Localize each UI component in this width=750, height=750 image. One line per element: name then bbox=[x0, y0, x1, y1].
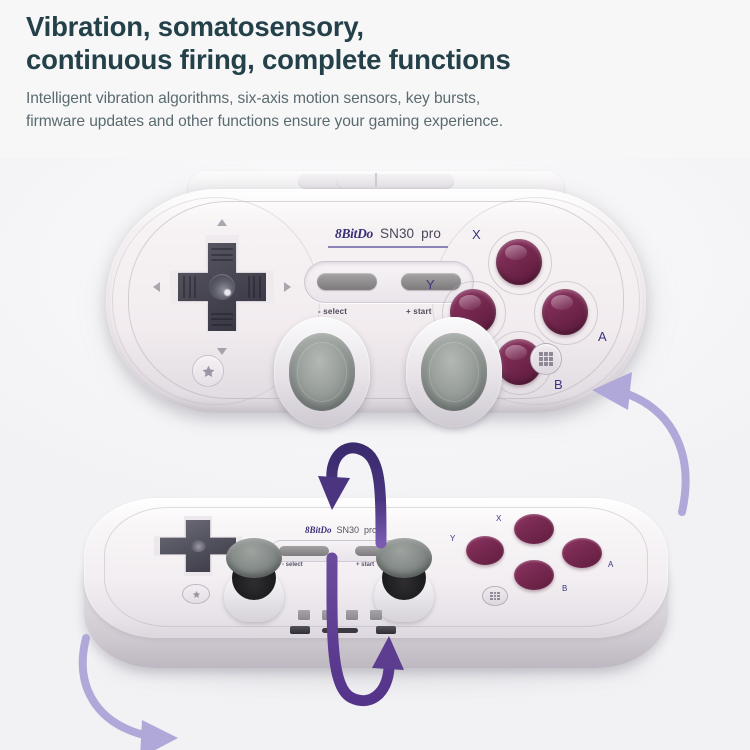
headline-line-1: Vibration, somatosensory, bbox=[26, 11, 364, 42]
dpad-left-marker-icon bbox=[153, 282, 160, 292]
capture-button[interactable] bbox=[530, 343, 562, 375]
feature-panel: Vibration, somatosensory, continuous fir… bbox=[0, 0, 750, 750]
select-button[interactable] bbox=[317, 273, 377, 290]
model-name: SN30 bbox=[380, 226, 414, 241]
start-label-bottom: + start bbox=[356, 562, 374, 568]
x-button-label: X bbox=[472, 227, 481, 242]
a-button-label-bottom: A bbox=[608, 560, 613, 569]
controller-perspective-view: 8BitDoSN30pro - select + start X Y A B bbox=[76, 488, 676, 698]
model-name-bottom: SN30 bbox=[336, 525, 359, 535]
a-button[interactable] bbox=[542, 289, 588, 335]
star-icon bbox=[201, 364, 216, 379]
y-button-label-bottom: Y bbox=[450, 534, 455, 543]
right-stick-cap-bottom bbox=[376, 538, 432, 578]
subline-line-1: Intelligent vibration algorithms, six-ax… bbox=[26, 90, 480, 107]
led-4 bbox=[370, 610, 382, 620]
page-title: Vibration, somatosensory, continuous fir… bbox=[26, 10, 726, 76]
brand-underline bbox=[328, 246, 448, 248]
a-button-bottom[interactable] bbox=[562, 538, 602, 568]
led-3 bbox=[346, 610, 358, 620]
right-analog-stick[interactable] bbox=[406, 317, 502, 427]
b-button-label: B bbox=[554, 377, 563, 392]
right-bumper[interactable] bbox=[336, 174, 454, 189]
star-icon-bottom bbox=[191, 590, 202, 599]
y-button-label: Y bbox=[426, 277, 435, 292]
x-button-bottom[interactable] bbox=[514, 514, 554, 544]
dpad-center-hub-bottom bbox=[190, 540, 206, 552]
dpad-cross[interactable] bbox=[178, 243, 266, 331]
dpad[interactable] bbox=[164, 229, 280, 345]
start-label: + start bbox=[406, 307, 432, 316]
shoulder-seam bbox=[375, 173, 377, 187]
brand-name-bottom: 8BitDo bbox=[305, 525, 332, 535]
select-button-bottom[interactable] bbox=[279, 546, 329, 556]
right-stick-cap bbox=[421, 333, 487, 411]
left-stick-cap bbox=[289, 333, 355, 411]
x-button[interactable] bbox=[496, 239, 542, 285]
left-analog-stick-bottom[interactable] bbox=[224, 538, 284, 622]
port-left-slot bbox=[290, 626, 310, 634]
controller-body: 8BitDoSN30pro - select + start X Y bbox=[106, 189, 646, 413]
subline-line-2: firmware updates and other functions ens… bbox=[26, 111, 726, 134]
port-right-slot bbox=[376, 626, 396, 634]
grid-icon bbox=[539, 352, 553, 366]
y-button-bottom[interactable] bbox=[466, 536, 504, 565]
model-suffix: pro bbox=[421, 226, 441, 241]
left-stick-cap-bottom bbox=[226, 538, 282, 578]
select-label-bottom: - select bbox=[282, 562, 303, 568]
brand-label: 8BitDoSN30pro bbox=[304, 225, 472, 248]
page-subtitle: Intelligent vibration algorithms, six-ax… bbox=[26, 88, 726, 133]
led-indicator-row bbox=[298, 610, 382, 620]
controller-top-view: 8BitDoSN30pro - select + start X Y bbox=[96, 171, 656, 427]
b-button-bottom[interactable] bbox=[514, 560, 554, 590]
dpad-down-marker-icon bbox=[217, 348, 227, 355]
model-suffix-bottom: pro bbox=[364, 525, 377, 535]
header-block: Vibration, somatosensory, continuous fir… bbox=[0, 0, 750, 158]
capture-button-bottom[interactable] bbox=[482, 586, 508, 606]
home-button-bottom[interactable] bbox=[182, 584, 210, 604]
left-analog-stick[interactable] bbox=[274, 317, 370, 427]
dpad-right-marker-icon bbox=[284, 282, 291, 292]
a-button-label: A bbox=[598, 329, 607, 344]
led-1 bbox=[298, 610, 310, 620]
product-stage: 8BitDoSN30pro - select + start X Y bbox=[0, 158, 750, 750]
grid-icon-bottom bbox=[490, 592, 500, 600]
dpad-up-marker-icon bbox=[217, 219, 227, 226]
right-analog-stick-bottom[interactable] bbox=[374, 538, 434, 622]
b-button-label-bottom: B bbox=[562, 584, 567, 593]
controller-top-face: 8BitDoSN30pro - select + start X Y A B bbox=[84, 498, 668, 638]
brand-label-bottom: 8BitDoSN30pro bbox=[266, 520, 416, 538]
usb-c-port bbox=[322, 628, 358, 633]
headline-line-2: continuous firing, complete functions bbox=[26, 43, 726, 76]
brand-name: 8BitDo bbox=[335, 226, 373, 241]
led-2 bbox=[322, 610, 334, 620]
dpad-center-hub bbox=[209, 274, 235, 300]
select-label: - select bbox=[318, 307, 347, 316]
home-button[interactable] bbox=[192, 355, 224, 387]
x-button-label-bottom: X bbox=[496, 514, 501, 523]
